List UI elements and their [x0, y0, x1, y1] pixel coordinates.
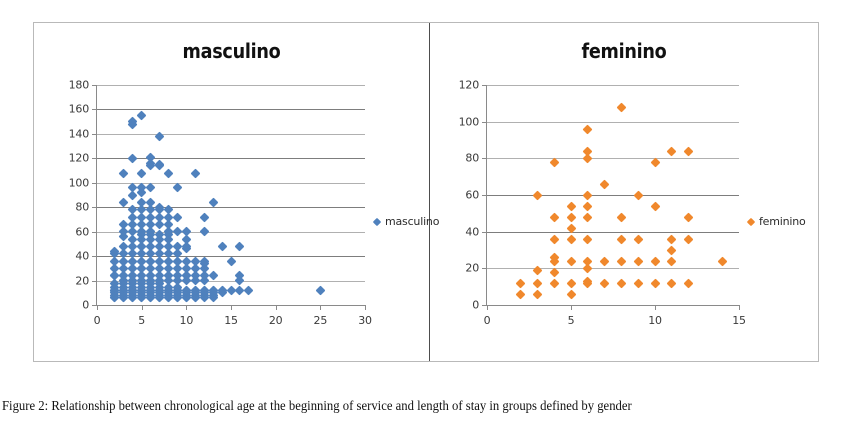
- y-tick-label-20: 20: [465, 262, 479, 275]
- data-point: [684, 212, 694, 222]
- x-tick-label-5: 5: [138, 314, 145, 327]
- data-point: [633, 234, 643, 244]
- data-point: [137, 168, 147, 178]
- data-point: [516, 278, 526, 288]
- data-point: [199, 227, 209, 237]
- y-tick-label-140: 140: [69, 127, 89, 140]
- data-point: [583, 190, 593, 200]
- x-tick-label-30: 30: [358, 314, 372, 327]
- data-point: [146, 197, 156, 207]
- gridline-y-100: [97, 183, 365, 184]
- x-tick-label-5: 5: [568, 314, 575, 327]
- y-tick-160: [92, 109, 97, 110]
- gridline-y-60: [487, 195, 739, 196]
- chart-title-masculino: masculino: [58, 39, 406, 63]
- data-point: [667, 256, 677, 266]
- data-point: [650, 201, 660, 211]
- data-point: [549, 212, 559, 222]
- x-tick-30: [365, 305, 366, 310]
- data-point: [583, 234, 593, 244]
- x-tick-15: [739, 305, 740, 310]
- data-point: [616, 278, 626, 288]
- y-tick-label-60: 60: [75, 225, 89, 238]
- y-tick-60: [92, 232, 97, 233]
- y-tick-label-80: 80: [75, 201, 89, 214]
- plot-area-feminino: 020406080100120 051015: [486, 85, 739, 306]
- x-tick-0: [97, 305, 98, 310]
- y-tick-40: [92, 256, 97, 257]
- legend-label-feminino: feminino: [759, 215, 806, 228]
- y-tick-140: [92, 134, 97, 135]
- gridline-y-160: [97, 109, 365, 110]
- x-tick-label-10: 10: [648, 314, 662, 327]
- data-point: [650, 256, 660, 266]
- data-point: [616, 256, 626, 266]
- data-point: [583, 201, 593, 211]
- data-point: [155, 131, 165, 141]
- data-point: [128, 153, 138, 163]
- data-point: [208, 197, 218, 207]
- data-point: [164, 168, 174, 178]
- y-tick-120: [482, 85, 487, 86]
- gridline-y-100: [487, 122, 739, 123]
- data-point: [684, 234, 694, 244]
- gridline-y-20: [487, 268, 739, 269]
- y-tick-label-100: 100: [459, 115, 479, 128]
- y-tick-label-120: 120: [69, 152, 89, 165]
- data-point: [566, 201, 576, 211]
- chart-panel-masculino: masculino 020406080100120140160180 05101…: [34, 23, 430, 361]
- data-point: [315, 285, 325, 295]
- x-tick-5: [142, 305, 143, 310]
- x-tick-label-15: 15: [224, 314, 238, 327]
- y-tick-label-0: 0: [82, 299, 89, 312]
- data-point: [208, 271, 218, 281]
- data-point: [583, 256, 593, 266]
- y-tick-80: [482, 158, 487, 159]
- data-point: [600, 256, 610, 266]
- x-tick-25: [320, 305, 321, 310]
- y-tick-label-40: 40: [75, 250, 89, 263]
- x-tick-label-25: 25: [314, 314, 328, 327]
- data-point: [566, 256, 576, 266]
- data-point: [566, 289, 576, 299]
- y-tick-100: [92, 183, 97, 184]
- legend-marker-icon-masculino: [373, 217, 381, 225]
- x-tick-15: [231, 305, 232, 310]
- y-tick-60: [482, 195, 487, 196]
- y-tick-20: [92, 281, 97, 282]
- data-point: [181, 227, 191, 237]
- data-point: [226, 256, 236, 266]
- y-tick-40: [482, 232, 487, 233]
- legend-feminino: feminino: [748, 215, 806, 228]
- gridline-y-40: [487, 232, 739, 233]
- gridline-y-80: [487, 158, 739, 159]
- data-point: [532, 289, 542, 299]
- data-point: [532, 278, 542, 288]
- data-point: [600, 278, 610, 288]
- data-point: [549, 234, 559, 244]
- data-point: [583, 124, 593, 134]
- data-point: [549, 278, 559, 288]
- y-tick-label-100: 100: [69, 176, 89, 189]
- data-point: [164, 205, 174, 215]
- figure-caption: Figure 2: Relationship between chronolog…: [2, 398, 801, 414]
- data-point: [566, 212, 576, 222]
- data-point: [532, 265, 542, 275]
- data-point: [172, 183, 182, 193]
- legend-marker-icon-feminino: [747, 217, 755, 225]
- x-tick-label-15: 15: [732, 314, 746, 327]
- gridline-y-140: [97, 134, 365, 135]
- y-tick-label-40: 40: [465, 225, 479, 238]
- x-tick-10: [655, 305, 656, 310]
- data-point: [684, 146, 694, 156]
- data-point: [583, 212, 593, 222]
- data-point: [532, 190, 542, 200]
- data-point: [119, 197, 129, 207]
- x-tick-label-0: 0: [484, 314, 491, 327]
- data-point: [146, 183, 156, 193]
- data-point: [516, 289, 526, 299]
- data-point: [633, 256, 643, 266]
- gridline-y-120: [487, 85, 739, 86]
- data-point: [566, 278, 576, 288]
- data-point: [600, 179, 610, 189]
- data-point: [667, 234, 677, 244]
- y-tick-120: [92, 158, 97, 159]
- figure-frame: masculino 020406080100120140160180 05101…: [33, 22, 819, 362]
- y-tick-100: [482, 122, 487, 123]
- chart-title-feminino: feminino: [453, 39, 794, 63]
- data-point: [633, 278, 643, 288]
- data-point: [235, 241, 245, 251]
- y-tick-label-80: 80: [465, 152, 479, 165]
- y-tick-20: [482, 268, 487, 269]
- data-point: [199, 212, 209, 222]
- data-point: [667, 245, 677, 255]
- data-point: [633, 190, 643, 200]
- data-point: [650, 278, 660, 288]
- chart-panel-feminino: feminino 020406080100120 051015 feminino: [430, 23, 818, 361]
- y-tick-label-60: 60: [465, 189, 479, 202]
- data-point: [616, 102, 626, 112]
- x-tick-10: [186, 305, 187, 310]
- x-tick-label-0: 0: [94, 314, 101, 327]
- x-tick-label-10: 10: [180, 314, 194, 327]
- x-tick-0: [487, 305, 488, 310]
- y-tick-label-180: 180: [69, 79, 89, 92]
- data-point: [172, 212, 182, 222]
- x-tick-5: [571, 305, 572, 310]
- x-tick-label-20: 20: [269, 314, 283, 327]
- y-tick-180: [92, 85, 97, 86]
- data-point: [583, 146, 593, 156]
- y-tick-label-160: 160: [69, 103, 89, 116]
- y-tick-label-0: 0: [472, 299, 479, 312]
- data-point: [244, 285, 254, 295]
- data-point: [119, 168, 129, 178]
- data-point: [667, 278, 677, 288]
- x-tick-20: [276, 305, 277, 310]
- data-point: [190, 168, 200, 178]
- y-tick-label-120: 120: [459, 79, 479, 92]
- data-point: [616, 234, 626, 244]
- data-point: [684, 278, 694, 288]
- data-point: [566, 234, 576, 244]
- plot-area-masculino: 020406080100120140160180 051015202530: [96, 85, 365, 306]
- data-point: [667, 146, 677, 156]
- data-point: [217, 241, 227, 251]
- data-point: [137, 111, 147, 121]
- y-tick-label-20: 20: [75, 274, 89, 287]
- gridline-y-180: [97, 85, 365, 86]
- data-point: [616, 212, 626, 222]
- data-point: [717, 256, 727, 266]
- y-tick-80: [92, 207, 97, 208]
